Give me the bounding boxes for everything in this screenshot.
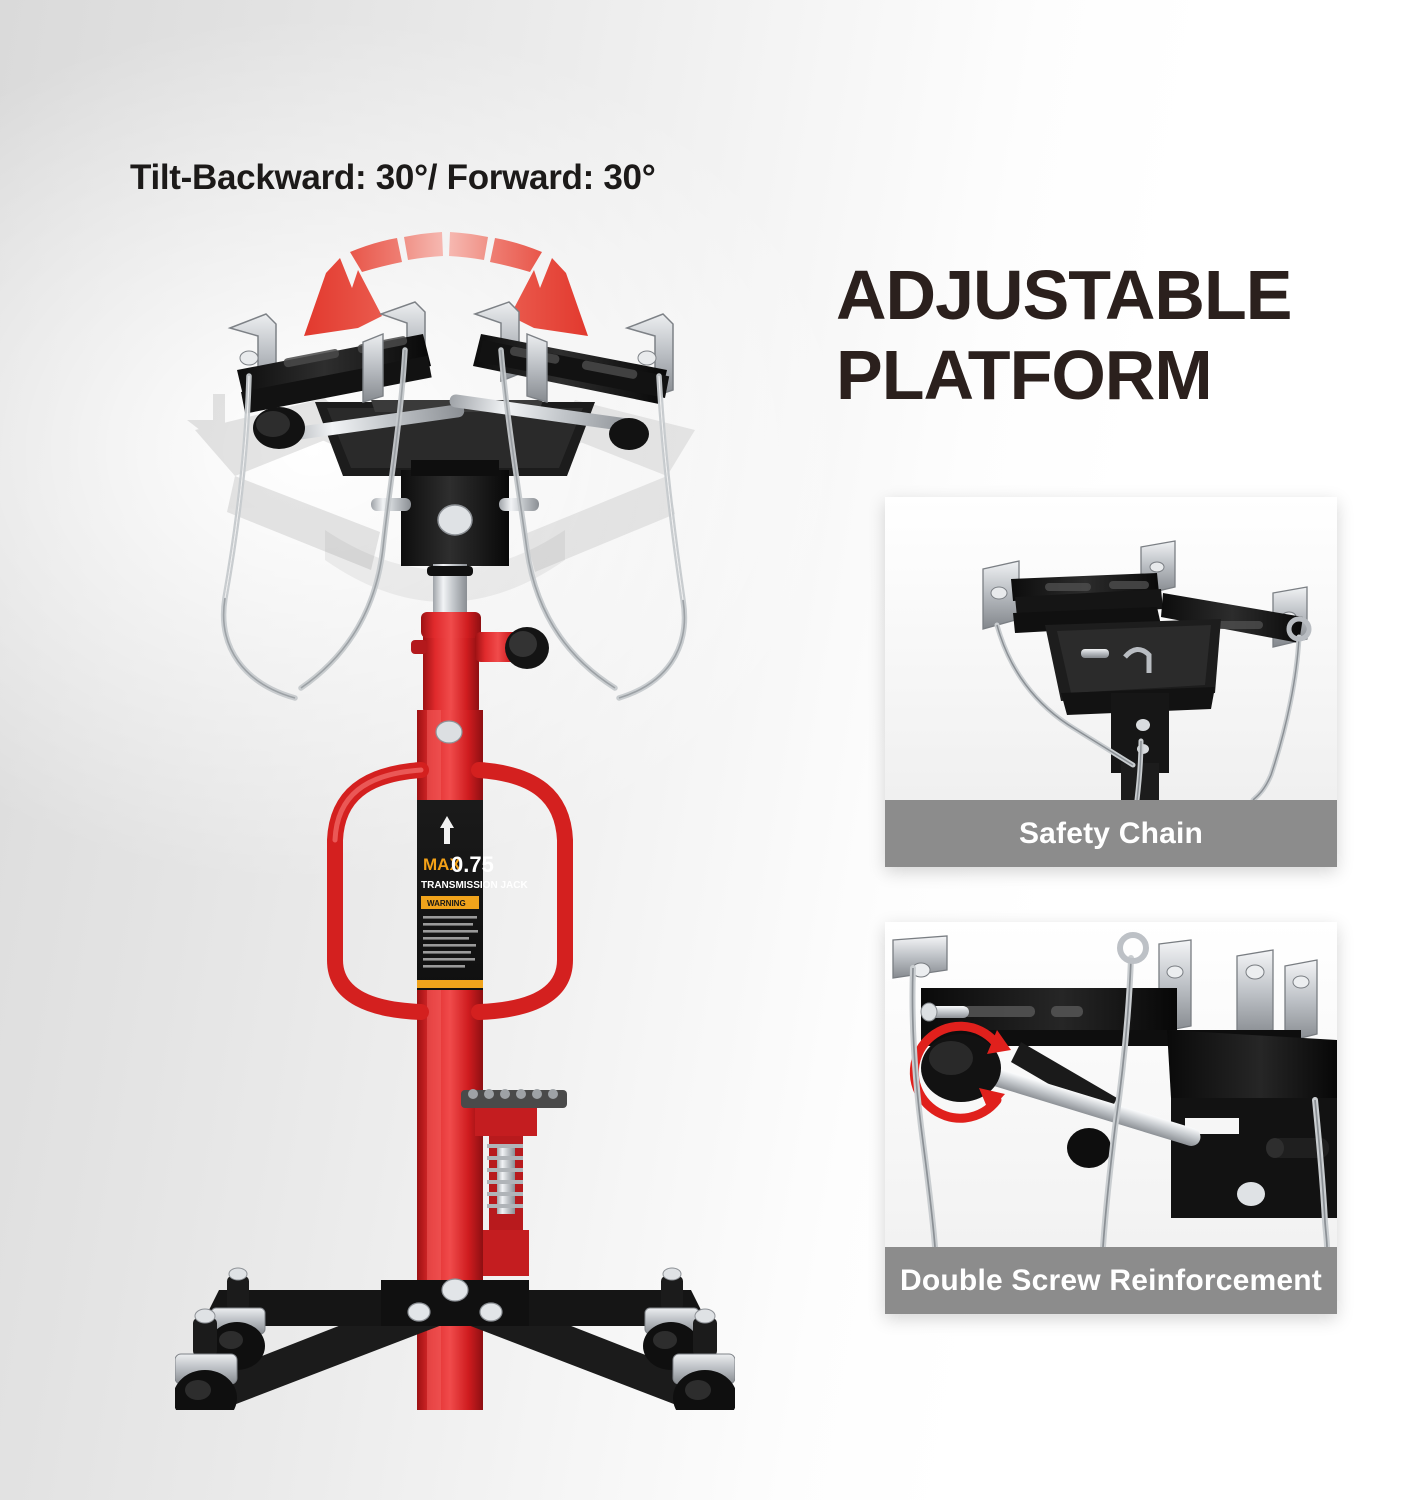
feature-card-safety-chain[interactable]: Safety Chain	[885, 497, 1337, 867]
feature-card-double-screw-reinforcement[interactable]: Double Screw Reinforcement	[885, 922, 1337, 1314]
headline-line-1: ADJUSTABLE	[836, 255, 1396, 335]
svg-text:TRANSMISSION JACK: TRANSMISSION JACK	[421, 880, 528, 891]
double-screw-reinforcement-photo	[885, 922, 1337, 1247]
card-caption-safety-chain: Safety Chain	[885, 800, 1337, 867]
headline-line-2: PLATFORM	[836, 335, 1396, 415]
product-feature-banner: Tilt-Backward: 30°/ Forward: 30°	[0, 0, 1421, 1500]
page-title: ADJUSTABLE PLATFORM	[836, 255, 1396, 415]
svg-text:0.75: 0.75	[451, 852, 494, 877]
safety-chain-photo	[885, 497, 1337, 800]
tilt-range-label: Tilt-Backward: 30°/ Forward: 30°	[130, 158, 655, 198]
transmission-jack-photo: MAX 0.75 TRANSMISSION JACK WARNING	[175, 280, 735, 1410]
card-caption-double-screw-reinforcement: Double Screw Reinforcement	[885, 1247, 1337, 1314]
svg-text:WARNING: WARNING	[427, 899, 466, 908]
